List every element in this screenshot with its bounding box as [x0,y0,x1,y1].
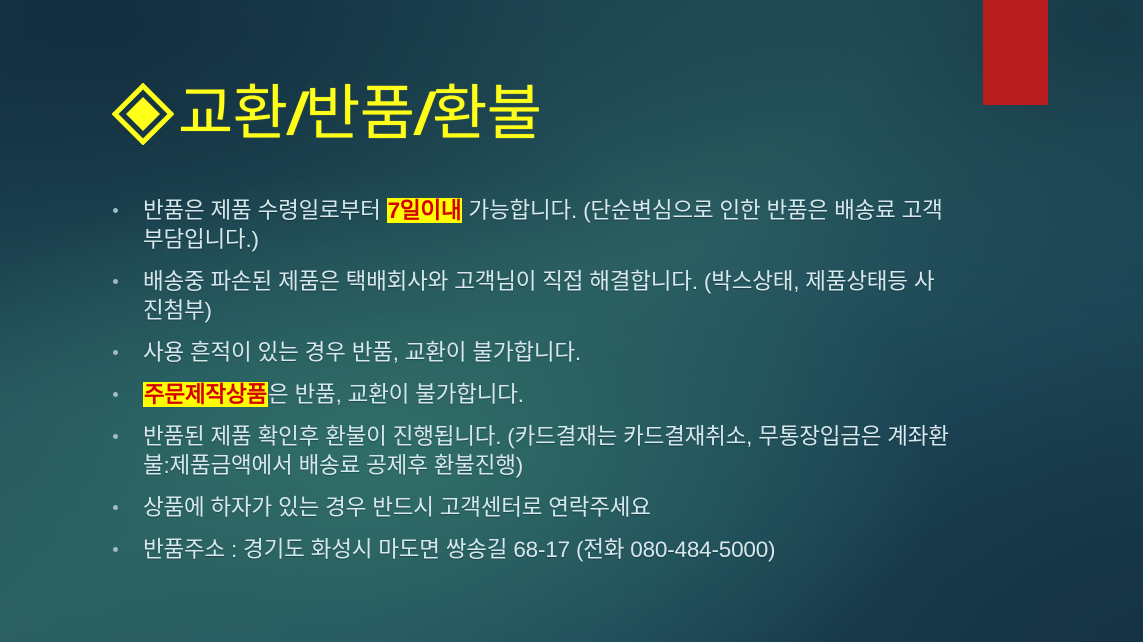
bullet-dot-icon [113,208,118,213]
bullet-dot-icon [113,279,118,284]
slide-canvas: 교환/반품/환불 반품은 제품 수령일로부터 7일이내 가능합니다. (단순변심… [0,0,1143,642]
bullet-item-used-product: 사용 흔적이 있는 경우 반품, 교환이 불가합니다. [104,338,954,367]
diamond-bullet-icon [112,83,174,145]
bullet-text: 배송중 파손된 제품은 택배회사와 고객님이 직접 해결합니다. (박스상태, … [143,269,934,323]
highlighted-text: 주문제작상품 [143,382,268,407]
bullet-text: 반품된 제품 확인후 환불이 진행됩니다. (카드결재는 카드결재취소, 무통장… [143,424,949,478]
bullet-text: 사용 흔적이 있는 경우 반품, 교환이 불가합니다. [143,340,581,365]
bullet-item-return-period: 반품은 제품 수령일로부터 7일이내 가능합니다. (단순변심으로 인한 반품은… [104,196,954,254]
title-separator: / [287,82,305,147]
bullet-item-shipping-damage: 배송중 파손된 제품은 택배회사와 고객님이 직접 해결합니다. (박스상태, … [104,267,954,325]
title-word: 환불 [432,80,541,147]
bullet-list: 반품은 제품 수령일로부터 7일이내 가능합니다. (단순변심으로 인한 반품은… [104,196,954,577]
highlighted-text: 7일이내 [387,198,463,223]
red-accent-block [983,0,1048,105]
bullet-dot-icon [113,505,118,510]
title-separator: / [414,82,432,147]
bullet-text: 상품에 하자가 있는 경우 반드시 고객센터로 연락주세요 [143,495,651,520]
bullet-text: 반품주소 : 경기도 화성시 마도면 쌍송길 68-17 (전화 080-484… [143,537,775,562]
bullet-dot-icon [113,434,118,439]
bullet-item-refund-process: 반품된 제품 확인후 환불이 진행됩니다. (카드결재는 카드결재취소, 무통장… [104,422,954,480]
bullet-dot-icon [113,392,118,397]
bullet-dot-icon [113,350,118,355]
bullet-item-return-address: 반품주소 : 경기도 화성시 마도면 쌍송길 68-17 (전화 080-484… [104,535,954,564]
bullet-item-defect-contact: 상품에 하자가 있는 경우 반드시 고객센터로 연락주세요 [104,493,954,522]
slide-title: 교환/반품/환불 [112,83,541,145]
title-word: 교환 [178,80,287,147]
slide-title-text: 교환/반품/환불 [178,83,541,144]
bullet-text: 은 반품, 교환이 불가합니다. [268,382,524,407]
bullet-item-custom-made: 주문제작상품은 반품, 교환이 불가합니다. [104,380,954,409]
bullet-dot-icon [113,547,118,552]
title-word: 반품 [305,80,414,147]
bullet-text: 반품은 제품 수령일로부터 [143,198,387,223]
